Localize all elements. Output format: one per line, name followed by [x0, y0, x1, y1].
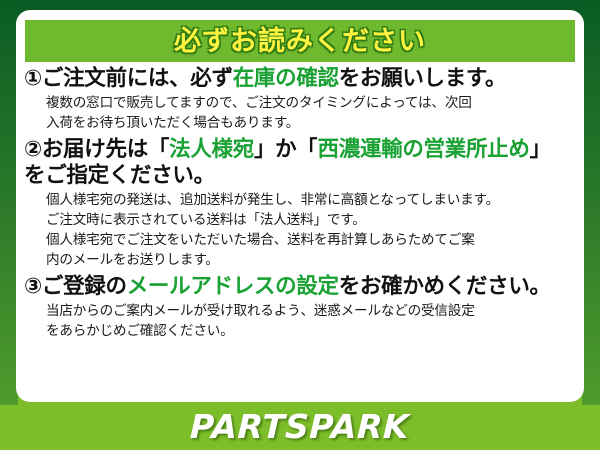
notice-item-2-heading: ②お届け先は「法人様宛」か「西濃運輸の営業所止め」をご指定ください。 [24, 137, 574, 189]
notice-item-1-body: 複数の窓口で販売してますので、ご注文のタイミングによっては、次回 入荷をお待ち頂… [46, 94, 574, 134]
notice-item-2-bracket-close: 」 [254, 137, 275, 162]
notice-item-1-head-post: をお願いします。 [339, 66, 506, 91]
notice-item-2-bracket-open: 「 [148, 137, 169, 162]
notice-card: 必ずお読みください ①ご注文前には、必ず在庫の確認をお願いします。 複数の窓口で… [16, 10, 584, 402]
notice-item-3-heading: ③ご登録のメールアドレスの設定をお確かめください。 [24, 274, 574, 300]
notice-item-2-number: ② [24, 137, 42, 162]
notice-poster: 必ずお読みください ①ご注文前には、必ず在庫の確認をお願いします。 複数の窓口で… [0, 0, 600, 450]
notice-item-2-head-pre: お届け先は [42, 137, 148, 162]
page-title: 必ずお読みください [174, 28, 426, 55]
notice-item-1-highlight: 在庫の確認 [233, 66, 339, 91]
notice-item-3-body: 当店からのご案内メールが受け取れるよう、迷惑メールなどの受信設定 をあらかじめご… [46, 302, 574, 342]
header-band: 必ずお読みください [25, 20, 575, 62]
notice-item-2-head-line2: をご指定ください。 [24, 163, 215, 188]
footer-bar: PARTSPARK [0, 402, 600, 450]
notice-item-2-highlight-2: 西濃運輸の営業所止め [318, 137, 530, 162]
frame-right-border [582, 0, 600, 405]
notice-item-3-number: ③ [24, 274, 42, 299]
brand-logo: PARTSPARK [190, 407, 410, 446]
notice-item-1-head-pre: ご注文前には、必ず [42, 66, 233, 91]
notice-item-2-bracket-close-2: 」 [530, 137, 551, 162]
notice-item-2-bracket-open-2: 「 [296, 137, 317, 162]
notice-item-1-heading: ①ご注文前には、必ず在庫の確認をお願いします。 [24, 66, 574, 92]
notice-item-3-head-pre: ご登録の [42, 274, 127, 299]
notice-item-3-highlight: メールアドレスの設定 [127, 274, 339, 299]
notice-item-2-head-mid: か [275, 137, 296, 162]
notice-body: ①ご注文前には、必ず在庫の確認をお願いします。 複数の窓口で販売してますので、ご… [16, 66, 584, 345]
notice-item-2-body: 個人様宅宛の発送は、追加送料が発生し、非常に高額となってしまいます。 ご注文時に… [46, 191, 574, 270]
notice-item-3: ③ご登録のメールアドレスの設定をお確かめください。 当店からのご案内メールが受け… [24, 274, 574, 342]
notice-item-2: ②お届け先は「法人様宛」か「西濃運輸の営業所止め」をご指定ください。 個人様宅宛… [24, 137, 574, 271]
notice-item-1-number: ① [24, 66, 42, 91]
notice-item-3-head-post: をお確かめください。 [339, 274, 551, 299]
notice-item-2-highlight-1: 法人様宛 [169, 137, 254, 162]
notice-item-1: ①ご注文前には、必ず在庫の確認をお願いします。 複数の窓口で販売してますので、ご… [24, 66, 574, 134]
